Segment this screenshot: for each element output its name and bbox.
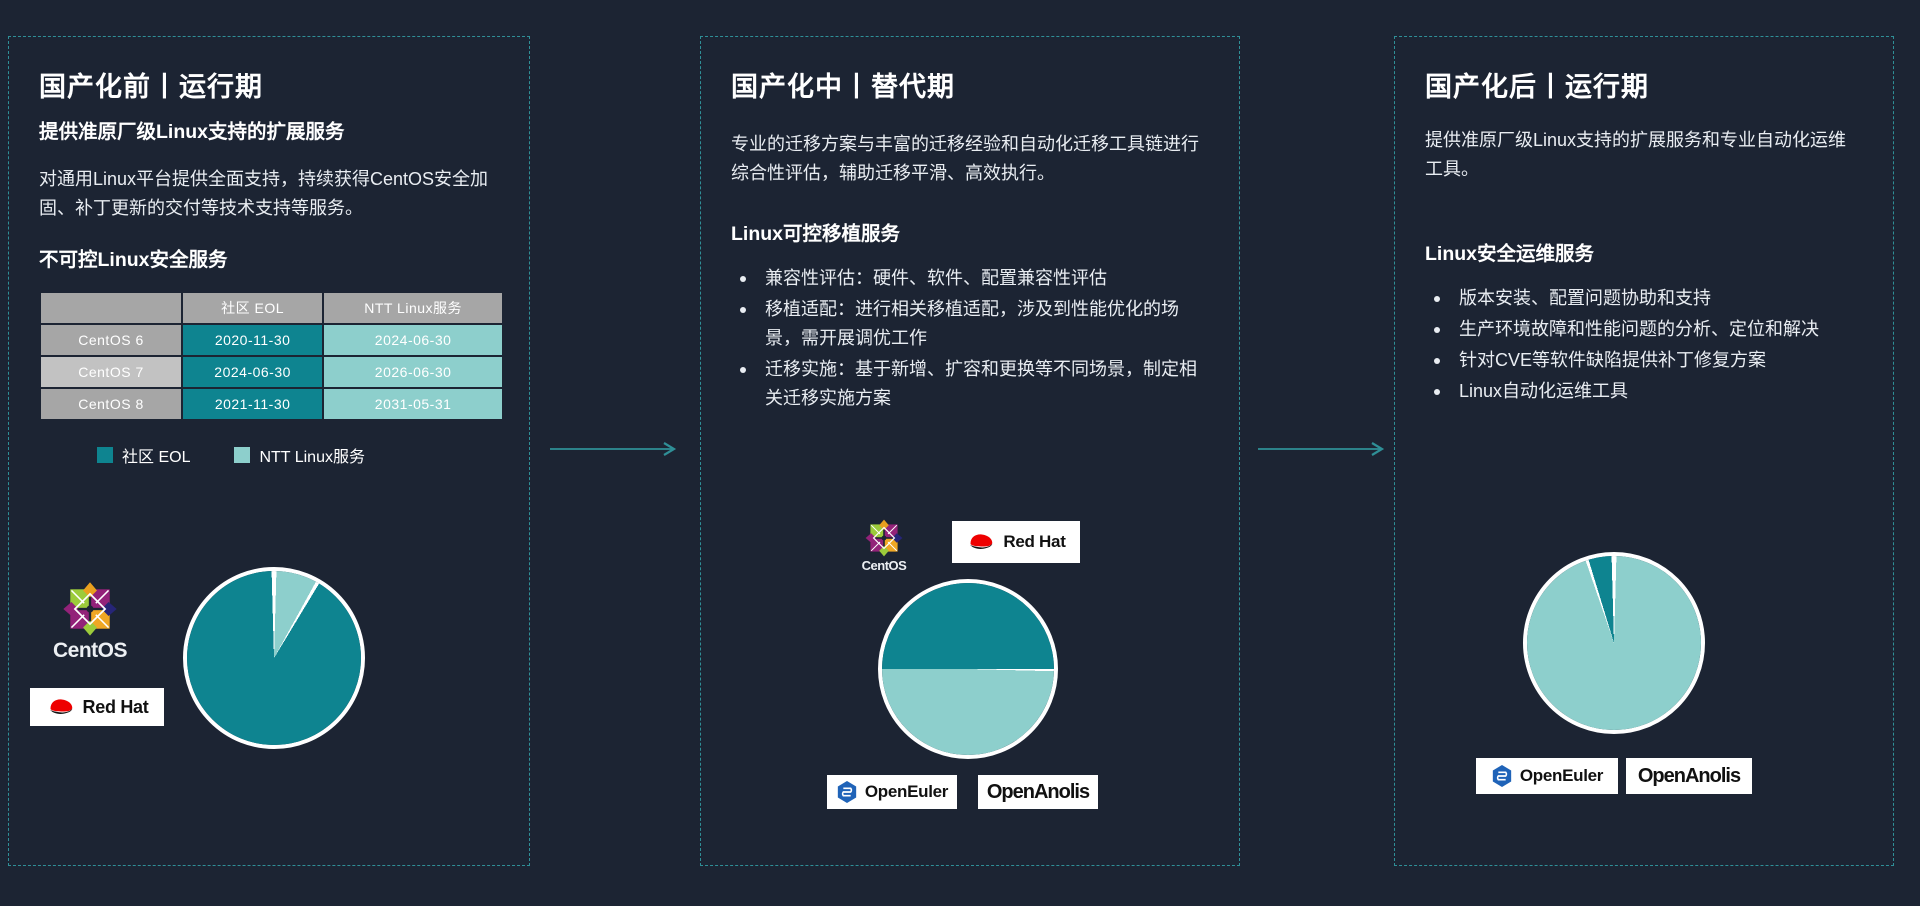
list-item: Linux自动化运维工具 — [1425, 377, 1863, 406]
list-item: 生产环境故障和性能问题的分析、定位和解决 — [1425, 315, 1863, 344]
slide-canvas: 国产化前丨运行期 提供准原厂级Linux支持的扩展服务 对通用Linux平台提供… — [0, 0, 1920, 906]
panel-3-title: 国产化后丨运行期 — [1425, 65, 1863, 104]
arrow-right-icon — [550, 442, 680, 456]
redhat-logo-label: Red Hat — [83, 697, 149, 718]
pie-chart-before — [183, 567, 365, 749]
openanolis-logo-panel2: OpenAnolis — [978, 775, 1098, 809]
panel-1-title: 国产化前丨运行期 — [39, 65, 499, 104]
legend-swatch-light-teal — [234, 447, 250, 463]
redhat-icon — [966, 531, 996, 553]
table-header-row: 社区 EOL NTT Linux服务 — [41, 293, 502, 323]
legend-label-ntt-linux: NTT Linux服务 — [259, 443, 365, 467]
panel-2-heading: Linux可控移植服务 — [731, 220, 1209, 249]
legend-label-community-eol: 社区 EOL — [122, 443, 190, 467]
list-item: 迁移实施：基于新增、扩容和更换等不同场景，制定相关迁移实施方案 — [731, 355, 1209, 413]
openeuler-logo-panel2: OpenEuler — [827, 775, 957, 809]
centos-eol-table: 社区 EOL NTT Linux服务 CentOS 6 2020-11-30 2… — [39, 291, 504, 421]
legend-item-ntt-linux: NTT Linux服务 — [234, 443, 365, 467]
table-header-community-eol: 社区 EOL — [183, 293, 322, 323]
openeuler-icon — [1491, 764, 1513, 788]
panel-2-bullet-list: 兼容性评估：硬件、软件、配置兼容性评估 移植适配：进行相关移植适配，涉及到性能优… — [731, 264, 1209, 414]
list-item: 兼容性评估：硬件、软件、配置兼容性评估 — [731, 264, 1209, 293]
cell-centos7-eol: 2024-06-30 — [183, 357, 322, 387]
centos-icon — [864, 518, 904, 558]
openeuler-logo-label: OpenEuler — [1520, 766, 1603, 786]
redhat-icon — [46, 696, 76, 718]
redhat-logo-panel1: Red Hat — [30, 688, 164, 726]
row-label-centos7: CentOS 7 — [41, 357, 181, 387]
list-item: 版本安装、配置问题协助和支持 — [1425, 284, 1863, 313]
cell-centos8-eol: 2021-11-30 — [183, 389, 322, 419]
openanolis-logo-label: OpenAnolis — [987, 781, 1089, 804]
list-item: 移植适配：进行相关移植适配，涉及到性能优化的场景，需开展调优工作 — [731, 295, 1209, 353]
cell-centos7-ntt: 2026-06-30 — [324, 357, 502, 387]
centos-icon — [61, 580, 119, 638]
pie-legend: 社区 EOL NTT Linux服务 — [39, 443, 499, 467]
panel-3-body: 提供准原厂级Linux支持的扩展服务和专业自动化运维工具。 — [1425, 126, 1863, 184]
arrow-right-icon — [1258, 442, 1388, 456]
panel-after-localization: 国产化后丨运行期 提供准原厂级Linux支持的扩展服务和专业自动化运维工具。 L… — [1394, 36, 1894, 866]
table-row: CentOS 6 2020-11-30 2024-06-30 — [41, 325, 502, 355]
openeuler-logo-panel3: OpenEuler — [1476, 758, 1618, 794]
table-header-ntt-linux: NTT Linux服务 — [324, 293, 502, 323]
list-item: 针对CVE等软件缺陷提供补丁修复方案 — [1425, 346, 1863, 375]
legend-swatch-dark-teal — [97, 447, 113, 463]
panel-2-title: 国产化中丨替代期 — [731, 65, 1209, 104]
centos-logo-panel2: CentOS — [855, 518, 913, 573]
table-header-blank — [41, 293, 181, 323]
table-row: CentOS 8 2021-11-30 2031-05-31 — [41, 389, 502, 419]
panel-1-heading: 不可控Linux安全服务 — [39, 246, 499, 275]
centos-logo-label: CentOS — [52, 639, 128, 663]
arrow-1-to-2 — [550, 442, 680, 456]
panel-2-body: 专业的迁移方案与丰富的迁移经验和自动化迁移工具链进行综合性评估，辅助迁移平滑、高… — [731, 130, 1209, 188]
openanolis-logo-panel3: OpenAnolis — [1626, 758, 1752, 794]
pie-slices-during — [882, 583, 1054, 755]
openeuler-logo-label: OpenEuler — [865, 782, 948, 802]
panel-3-bullet-list: 版本安装、配置问题协助和支持 生产环境故障和性能问题的分析、定位和解决 针对CV… — [1425, 284, 1863, 407]
panel-3-heading: Linux安全运维服务 — [1425, 240, 1863, 269]
redhat-logo-label: Red Hat — [1003, 532, 1065, 552]
cell-centos6-eol: 2020-11-30 — [183, 325, 322, 355]
pie-chart-after — [1523, 552, 1705, 734]
table-row: CentOS 7 2024-06-30 2026-06-30 — [41, 357, 502, 387]
panel-1-body: 对通用Linux平台提供全面支持，持续获得CentOS安全加固、补丁更新的交付等… — [39, 165, 499, 223]
row-label-centos6: CentOS 6 — [41, 325, 181, 355]
redhat-logo-panel2: Red Hat — [952, 521, 1080, 563]
cell-centos6-ntt: 2024-06-30 — [324, 325, 502, 355]
legend-item-community-eol: 社区 EOL — [97, 443, 190, 467]
row-label-centos8: CentOS 8 — [41, 389, 181, 419]
centos-logo-label: CentOS — [855, 558, 913, 573]
panel-1-subtitle: 提供准原厂级Linux支持的扩展服务 — [39, 118, 499, 147]
pie-chart-during — [878, 579, 1058, 759]
centos-logo-panel1: CentOS — [52, 580, 128, 663]
openanolis-logo-label: OpenAnolis — [1638, 765, 1740, 788]
pie-slices-before — [187, 571, 361, 745]
cell-centos8-ntt: 2031-05-31 — [324, 389, 502, 419]
pie-slices-after — [1527, 556, 1701, 730]
arrow-2-to-3 — [1258, 442, 1388, 456]
openeuler-icon — [836, 780, 858, 804]
